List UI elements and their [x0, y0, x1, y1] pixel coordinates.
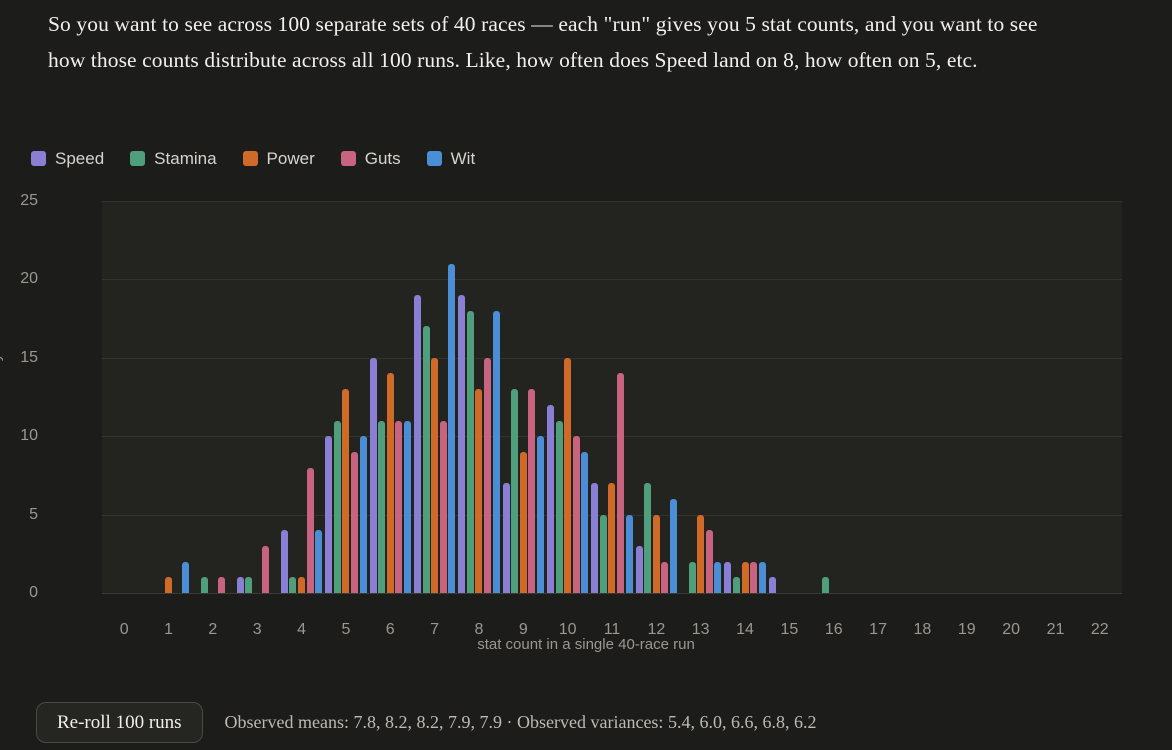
bar-power-4[interactable]	[298, 577, 305, 593]
bar-wit-11[interactable]	[626, 515, 633, 593]
bar-speed-6[interactable]	[370, 358, 377, 593]
legend-item-label: Wit	[451, 150, 476, 167]
bar-power-11[interactable]	[608, 483, 615, 593]
bar-stamina-5[interactable]	[334, 421, 341, 593]
bar-power-6[interactable]	[387, 373, 394, 593]
bar-speed-12[interactable]	[636, 546, 643, 593]
legend-item-power[interactable]: Power	[243, 150, 315, 167]
bar-group	[990, 201, 1031, 593]
bar-guts-12[interactable]	[661, 562, 668, 593]
bar-speed-4[interactable]	[281, 530, 288, 593]
y-axis-tick: 5	[0, 506, 38, 524]
legend-item-label: Stamina	[154, 150, 216, 167]
bar-group	[503, 201, 544, 593]
legend-item-label: Power	[267, 150, 315, 167]
bar-group	[237, 201, 278, 593]
legend-item-label: Speed	[55, 150, 104, 167]
bar-stamina-11[interactable]	[600, 515, 607, 593]
bar-power-5[interactable]	[342, 389, 349, 593]
y-axis-tick: 0	[0, 584, 38, 602]
bar-group	[1035, 201, 1076, 593]
bar-guts-14[interactable]	[750, 562, 757, 593]
legend-swatch-icon	[31, 151, 46, 166]
intro-paragraph: So you want to see across 100 separate s…	[48, 6, 1078, 78]
bar-guts-7[interactable]	[440, 421, 447, 593]
bar-group	[902, 201, 943, 593]
bar-stamina-8[interactable]	[467, 311, 474, 593]
reroll-button[interactable]: Re-roll 100 runs	[36, 702, 203, 743]
bar-stamina-9[interactable]	[511, 389, 518, 593]
bar-wit-5[interactable]	[360, 436, 367, 593]
bar-group	[148, 201, 189, 593]
plot-area: 0510152025012345678910111213141516171819…	[102, 201, 1122, 593]
bar-group	[724, 201, 765, 593]
gridline	[102, 593, 1122, 594]
bar-group	[547, 201, 588, 593]
bar-group	[769, 201, 810, 593]
bar-wit-9[interactable]	[537, 436, 544, 593]
bar-guts-11[interactable]	[617, 373, 624, 593]
chart-container: how many of the 100 runs landed here 051…	[0, 186, 1172, 666]
bar-group	[325, 201, 366, 593]
chart-legend: SpeedStaminaPowerGutsWit	[31, 145, 475, 171]
bar-stamina-4[interactable]	[289, 577, 296, 593]
bar-group	[370, 201, 411, 593]
bar-guts-10[interactable]	[573, 436, 580, 593]
bar-speed-14[interactable]	[724, 562, 731, 593]
bar-wit-12[interactable]	[670, 499, 677, 593]
y-axis-tick: 25	[0, 192, 38, 210]
bar-group	[813, 201, 854, 593]
bar-stamina-2[interactable]	[201, 577, 208, 593]
bar-power-9[interactable]	[520, 452, 527, 593]
bar-guts-3[interactable]	[262, 546, 269, 593]
bar-stamina-3[interactable]	[245, 577, 252, 593]
bar-stamina-7[interactable]	[423, 326, 430, 593]
bar-group	[1079, 201, 1120, 593]
footer-bar: Re-roll 100 runs Observed means: 7.8, 8.…	[0, 694, 1172, 750]
bar-group	[636, 201, 677, 593]
bar-group	[458, 201, 499, 593]
bar-stamina-6[interactable]	[378, 421, 385, 593]
bar-guts-9[interactable]	[528, 389, 535, 593]
bar-stamina-16[interactable]	[822, 577, 829, 593]
bar-group	[103, 201, 144, 593]
legend-item-speed[interactable]: Speed	[31, 150, 104, 167]
bar-power-14[interactable]	[742, 562, 749, 593]
x-axis-label: stat count in a single 40-race run	[0, 636, 1172, 653]
bar-wit-14[interactable]	[759, 562, 766, 593]
y-axis-tick: 15	[0, 349, 38, 367]
y-axis-tick: 10	[0, 427, 38, 445]
bar-group	[281, 201, 322, 593]
bar-speed-5[interactable]	[325, 436, 332, 593]
legend-swatch-icon	[243, 151, 258, 166]
bar-wit-7[interactable]	[448, 264, 455, 593]
bar-group	[857, 201, 898, 593]
bar-wit-8[interactable]	[493, 311, 500, 593]
legend-swatch-icon	[341, 151, 356, 166]
bar-power-8[interactable]	[475, 389, 482, 593]
bar-stamina-14[interactable]	[733, 577, 740, 593]
bar-stamina-13[interactable]	[689, 562, 696, 593]
y-axis-tick: 20	[0, 270, 38, 288]
legend-item-stamina[interactable]: Stamina	[130, 150, 216, 167]
bar-guts-5[interactable]	[351, 452, 358, 593]
bar-stamina-10[interactable]	[556, 421, 563, 593]
legend-item-label: Guts	[365, 150, 401, 167]
bar-speed-15[interactable]	[769, 577, 776, 593]
bar-wit-10[interactable]	[581, 452, 588, 593]
bar-power-7[interactable]	[431, 358, 438, 593]
bar-speed-11[interactable]	[591, 483, 598, 593]
bar-guts-13[interactable]	[706, 530, 713, 593]
bar-guts-4[interactable]	[307, 468, 314, 593]
bar-wit-13[interactable]	[714, 562, 721, 593]
bar-speed-8[interactable]	[458, 295, 465, 593]
bar-stamina-12[interactable]	[644, 483, 651, 593]
bar-speed-10[interactable]	[547, 405, 554, 593]
observed-stats-text: Observed means: 7.8, 8.2, 8.2, 7.9, 7.9 …	[225, 712, 817, 733]
bar-group	[680, 201, 721, 593]
bar-power-13[interactable]	[697, 515, 704, 593]
bar-power-1[interactable]	[165, 577, 172, 593]
bar-power-10[interactable]	[564, 358, 571, 593]
bar-guts-6[interactable]	[395, 421, 402, 593]
bar-speed-7[interactable]	[414, 295, 421, 593]
bar-group	[192, 201, 233, 593]
bar-speed-9[interactable]	[503, 483, 510, 593]
bar-wit-1[interactable]	[182, 562, 189, 593]
bar-wit-4[interactable]	[315, 530, 322, 593]
bar-guts-2[interactable]	[218, 577, 225, 593]
bar-group	[414, 201, 455, 593]
legend-item-guts[interactable]: Guts	[341, 150, 401, 167]
bar-guts-8[interactable]	[484, 358, 491, 593]
bar-power-12[interactable]	[653, 515, 660, 593]
legend-swatch-icon	[130, 151, 145, 166]
bar-group	[946, 201, 987, 593]
bar-group	[591, 201, 632, 593]
bar-speed-3[interactable]	[237, 577, 244, 593]
legend-item-wit[interactable]: Wit	[427, 150, 476, 167]
bar-wit-6[interactable]	[404, 421, 411, 593]
legend-swatch-icon	[427, 151, 442, 166]
